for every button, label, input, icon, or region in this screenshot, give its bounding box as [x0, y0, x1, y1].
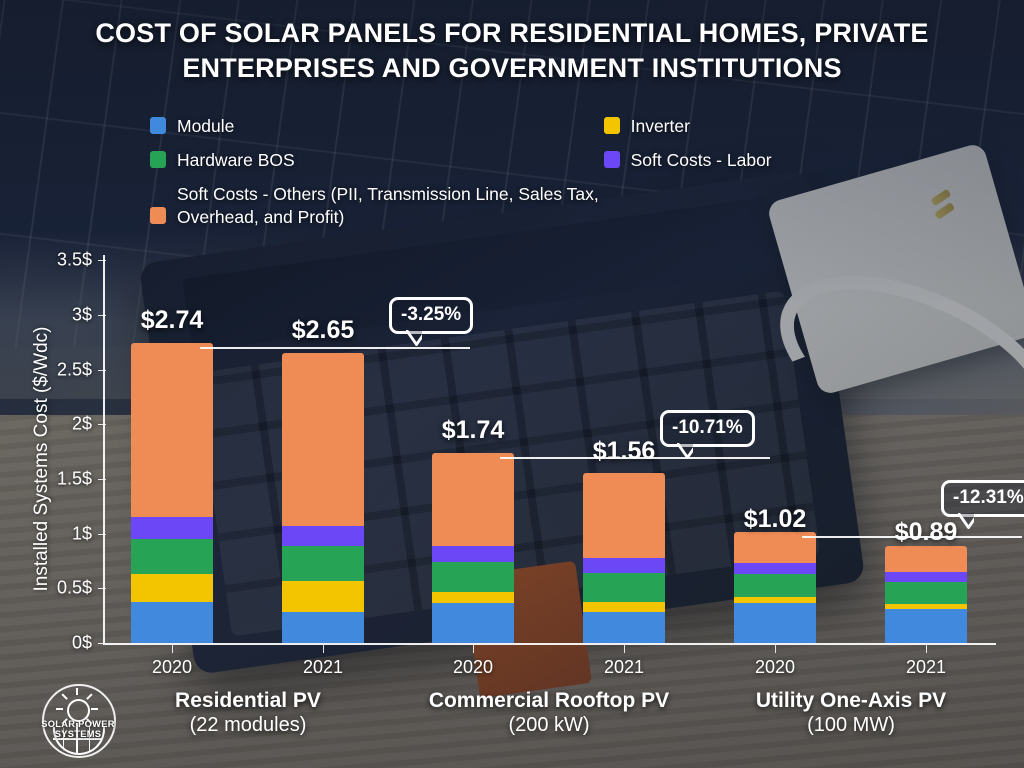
- y-tick-2: [98, 424, 106, 425]
- y-tick-0: [98, 643, 106, 644]
- segment-module: [885, 609, 967, 643]
- segment-module: [583, 612, 665, 643]
- callout-utility-change: -12.31%: [941, 480, 1024, 517]
- callout-text-residential: -3.25%: [401, 304, 461, 325]
- segment-soft-costs-labor: [131, 517, 213, 539]
- x-label-residential-2020: 2020: [112, 657, 232, 678]
- callout-tail-icon: [958, 513, 974, 529]
- x-tick-commercial-2020: [473, 645, 474, 653]
- callout-text-commercial: -10.71%: [672, 417, 743, 438]
- segment-module: [432, 603, 514, 643]
- segment-inverter: [131, 574, 213, 602]
- segment-soft-costs-labor: [885, 572, 967, 582]
- y-tick-2-5: [98, 370, 106, 371]
- x-label-residential-2021: 2021: [263, 657, 383, 678]
- y-tick-label-3-5: 3.5$: [14, 250, 92, 271]
- y-tick-label-1: 1$: [14, 524, 92, 545]
- segment-module: [282, 612, 364, 643]
- group-label-commercial: Commercial Rooftop PV (200 kW): [384, 688, 714, 738]
- segment-soft-costs-others: [885, 546, 967, 572]
- bar-value-residential-2021: $2.65: [248, 316, 398, 345]
- callout-commercial-change: -10.71%: [660, 410, 755, 447]
- sun-ray-icon-3: [91, 708, 98, 710]
- y-tick-label-2-5: 2.5$: [14, 360, 92, 381]
- bar-value-residential-2020: $2.74: [97, 306, 247, 335]
- y-tick-1-5: [98, 479, 106, 480]
- y-tick-label-0: 0$: [14, 633, 92, 654]
- connector-utility: [802, 536, 1022, 538]
- y-tick-label-2: 2$: [14, 414, 92, 435]
- segment-soft-costs-labor: [282, 526, 364, 546]
- segment-hardware-bos: [734, 574, 816, 597]
- segment-inverter: [583, 602, 665, 612]
- segment-hardware-bos: [885, 582, 967, 604]
- bar-value-utility-2021: $0.89: [851, 518, 1001, 547]
- segment-soft-costs-others: [131, 343, 213, 517]
- segment-module: [734, 603, 816, 643]
- chart-plot-area: 0$ 0.5$ 1$ 1.5$ 2$ 2.5$ 3$ 3.5$ Installe…: [0, 0, 1024, 768]
- infographic-canvas: COST OF SOLAR PANELS FOR RESIDENTIAL HOM…: [0, 0, 1024, 768]
- y-tick-label-0-5: 0.5$: [14, 578, 92, 599]
- x-tick-commercial-2021: [624, 645, 625, 653]
- y-tick-label-1-5: 1.5$: [14, 469, 92, 490]
- logo-text: SOLAR POWER SYSTEMS: [22, 719, 134, 739]
- segment-inverter: [432, 592, 514, 603]
- y-tick-label-3: 3$: [14, 305, 92, 326]
- connector-residential: [200, 347, 470, 349]
- segment-soft-costs-others: [583, 473, 665, 558]
- bar-utility-2021[interactable]: [885, 546, 967, 643]
- x-tick-residential-2021: [323, 645, 324, 653]
- x-label-utility-2021: 2021: [866, 657, 986, 678]
- bar-utility-2020[interactable]: [734, 532, 816, 643]
- segment-inverter: [282, 581, 364, 612]
- x-label-commercial-2020: 2020: [413, 657, 533, 678]
- segment-soft-costs-labor: [432, 546, 514, 562]
- bar-residential-2020[interactable]: [131, 343, 213, 643]
- segment-soft-costs-others: [432, 453, 514, 546]
- bar-value-utility-2020: $1.02: [700, 505, 850, 534]
- segment-hardware-bos: [583, 573, 665, 602]
- segment-soft-costs-others: [282, 353, 364, 526]
- y-tick-3-5: [98, 260, 106, 261]
- group-name-commercial: Commercial Rooftop PV: [384, 688, 714, 713]
- x-tick-utility-2021: [926, 645, 927, 653]
- y-tick-0-5: [98, 588, 106, 589]
- segment-soft-costs-labor: [583, 558, 665, 573]
- x-tick-residential-2020: [172, 645, 173, 653]
- bar-commercial-2020[interactable]: [432, 453, 514, 643]
- segment-hardware-bos: [432, 562, 514, 592]
- x-axis-line: [103, 643, 996, 645]
- segment-hardware-bos: [131, 539, 213, 574]
- group-sub-utility: (100 MW): [686, 713, 1016, 738]
- callout-text-utility: -12.31%: [953, 487, 1024, 508]
- x-label-utility-2020: 2020: [715, 657, 835, 678]
- brand-logo[interactable]: SOLAR POWER SYSTEMS: [22, 682, 134, 758]
- group-sub-commercial: (200 kW): [384, 713, 714, 738]
- group-label-utility: Utility One-Axis PV (100 MW): [686, 688, 1016, 738]
- group-name-utility: Utility One-Axis PV: [686, 688, 1016, 713]
- bar-residential-2021[interactable]: [282, 353, 364, 643]
- sun-ray-icon-1: [76, 688, 78, 695]
- connector-commercial: [500, 457, 770, 459]
- callout-tail-icon: [677, 443, 693, 459]
- bar-value-commercial-2020: $1.74: [398, 416, 548, 445]
- bar-commercial-2021[interactable]: [583, 473, 665, 643]
- callout-residential-change: -3.25%: [389, 297, 473, 334]
- segment-module: [131, 602, 213, 643]
- x-tick-utility-2020: [775, 645, 776, 653]
- sun-ray-icon-7: [56, 708, 63, 710]
- y-tick-1: [98, 534, 106, 535]
- segment-hardware-bos: [282, 546, 364, 581]
- callout-tail-icon: [406, 330, 422, 346]
- y-axis-label: Installed Systems Cost ($/Wdc): [31, 299, 53, 619]
- segment-soft-costs-labor: [734, 563, 816, 574]
- x-label-commercial-2021: 2021: [564, 657, 684, 678]
